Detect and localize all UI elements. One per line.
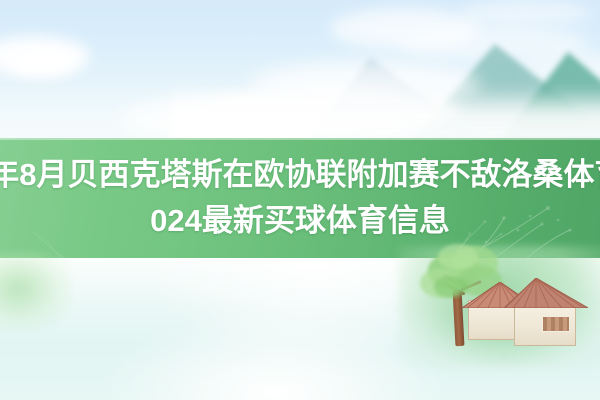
- house-window: [542, 316, 570, 332]
- sky-background: [0, 0, 600, 150]
- headline-text: 本年8月贝西克塔斯在欧协联附加赛不敌洛桑体育2 024最新买球体育信息: [0, 138, 600, 258]
- headline-band: 本年8月贝西克塔斯在欧协联附加赛不敌洛桑体育2 024最新买球体育信息: [0, 138, 600, 258]
- cloud-icon: [460, 0, 590, 26]
- headline-line-2: 024最新买球体育信息: [150, 198, 450, 244]
- left-foliage: [0, 252, 72, 332]
- house-roof-right: [504, 278, 588, 308]
- cloud-icon: [8, 50, 78, 76]
- article-thumbnail-banner: 本年8月贝西克塔斯在欧协联附加赛不敌洛桑体育2 024最新买球体育信息: [0, 0, 600, 400]
- headline-line-1: 本年8月贝西克塔斯在欧协联附加赛不敌洛桑体育2: [0, 152, 600, 198]
- tree-canopy: [438, 244, 478, 270]
- cottage-house-icon: [462, 276, 590, 348]
